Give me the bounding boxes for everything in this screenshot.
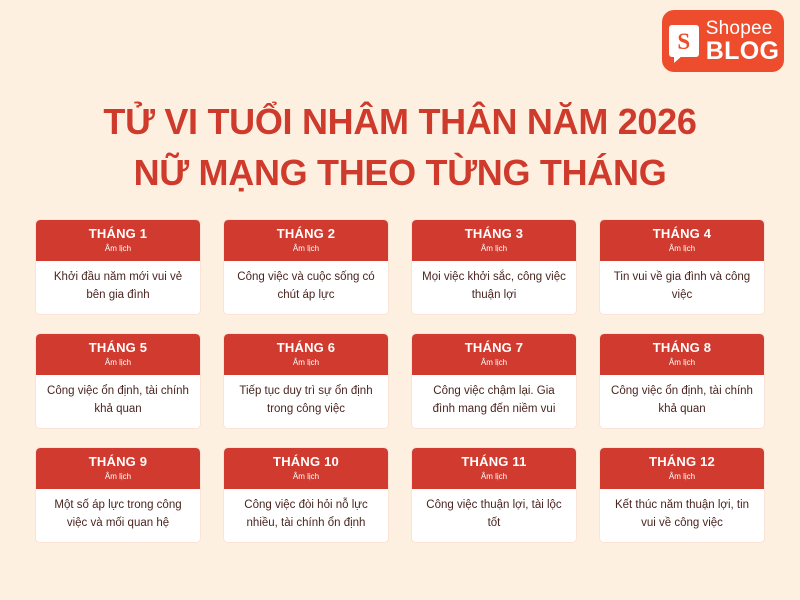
month-card-label: THÁNG 9	[40, 455, 196, 470]
month-card-header: THÁNG 3 Âm lịch	[412, 220, 576, 261]
month-card-label: THÁNG 3	[416, 227, 572, 242]
month-card-label: THÁNG 1	[40, 227, 196, 242]
month-card-text: Một số áp lực trong công việc và mối qua…	[36, 489, 200, 542]
month-card-label: THÁNG 12	[604, 455, 760, 470]
month-card-header: THÁNG 7 Âm lịch	[412, 334, 576, 375]
month-card-label: THÁNG 2	[228, 227, 384, 242]
month-card-calendar-type: Âm lịch	[416, 358, 572, 368]
month-card-header: THÁNG 8 Âm lịch	[600, 334, 764, 375]
month-card-label: THÁNG 6	[228, 341, 384, 356]
month-card: THÁNG 1 Âm lịch Khởi đầu năm mới vui vẻ …	[36, 220, 200, 314]
month-card-text: Công việc đòi hỏi nỗ lực nhiều, tài chín…	[224, 489, 388, 542]
month-card: THÁNG 11 Âm lịch Công việc thuận lợi, tà…	[412, 448, 576, 542]
month-card-label: THÁNG 8	[604, 341, 760, 356]
page-title-line-2: NỮ MẠNG THEO TỪNG THÁNG	[0, 147, 800, 198]
month-card-label: THÁNG 11	[416, 455, 572, 470]
month-card: THÁNG 9 Âm lịch Một số áp lực trong công…	[36, 448, 200, 542]
month-card-calendar-type: Âm lịch	[416, 244, 572, 254]
month-card: THÁNG 12 Âm lịch Kết thúc năm thuận lợi,…	[600, 448, 764, 542]
month-card-calendar-type: Âm lịch	[416, 472, 572, 482]
month-card-text: Công việc ổn định, tài chính khả quan	[36, 375, 200, 428]
month-card-calendar-type: Âm lịch	[40, 244, 196, 254]
month-card-calendar-type: Âm lịch	[40, 472, 196, 482]
month-card-label: THÁNG 5	[40, 341, 196, 356]
month-card: THÁNG 7 Âm lịch Công việc chậm lại. Gia …	[412, 334, 576, 428]
month-card-text: Tiếp tục duy trì sự ổn định trong công v…	[224, 375, 388, 428]
month-card-calendar-type: Âm lịch	[228, 472, 384, 482]
month-card-text: Công việc ổn định, tài chính khả quan	[600, 375, 764, 428]
logo-word-blog: BLOG	[706, 39, 779, 64]
month-card-header: THÁNG 11 Âm lịch	[412, 448, 576, 489]
month-card-text: Khởi đầu năm mới vui vẻ bên gia đình	[36, 261, 200, 314]
month-card-label: THÁNG 4	[604, 227, 760, 242]
month-card: THÁNG 8 Âm lịch Công việc ổn định, tài c…	[600, 334, 764, 428]
month-card: THÁNG 6 Âm lịch Tiếp tục duy trì sự ổn đ…	[224, 334, 388, 428]
month-card-text: Tin vui về gia đình và công việc	[600, 261, 764, 314]
month-card-header: THÁNG 1 Âm lịch	[36, 220, 200, 261]
month-card-calendar-type: Âm lịch	[604, 244, 760, 254]
month-card-header: THÁNG 12 Âm lịch	[600, 448, 764, 489]
month-card-calendar-type: Âm lịch	[228, 358, 384, 368]
month-card-text: Mọi việc khởi sắc, công việc thuận lợi	[412, 261, 576, 314]
shopee-blog-logo: S Shopee BLOG	[662, 10, 784, 72]
month-card-label: THÁNG 10	[228, 455, 384, 470]
month-card-header: THÁNG 2 Âm lịch	[224, 220, 388, 261]
month-card-header: THÁNG 6 Âm lịch	[224, 334, 388, 375]
month-card-text: Công việc thuận lợi, tài lộc tốt	[412, 489, 576, 542]
logo-wordmark: Shopee BLOG	[706, 19, 779, 64]
logo-word-shopee: Shopee	[706, 19, 773, 38]
shopee-bag-icon: S	[669, 25, 699, 57]
month-card-label: THÁNG 7	[416, 341, 572, 356]
page-title-line-1: TỬ VI TUỔI NHÂM THÂN NĂM 2026	[0, 96, 800, 147]
month-card-header: THÁNG 5 Âm lịch	[36, 334, 200, 375]
month-card-text: Công việc và cuộc sống có chút áp lực	[224, 261, 388, 314]
month-card-text: Kết thúc năm thuận lợi, tin vui về công …	[600, 489, 764, 542]
month-card: THÁNG 10 Âm lịch Công việc đòi hỏi nỗ lự…	[224, 448, 388, 542]
month-card: THÁNG 4 Âm lịch Tin vui về gia đình và c…	[600, 220, 764, 314]
month-card-calendar-type: Âm lịch	[604, 472, 760, 482]
month-card-header: THÁNG 10 Âm lịch	[224, 448, 388, 489]
month-card: THÁNG 5 Âm lịch Công việc ổn định, tài c…	[36, 334, 200, 428]
month-card-header: THÁNG 4 Âm lịch	[600, 220, 764, 261]
month-card-text: Công việc chậm lại. Gia đình mang đến ni…	[412, 375, 576, 428]
month-card: THÁNG 3 Âm lịch Mọi việc khởi sắc, công …	[412, 220, 576, 314]
month-card-calendar-type: Âm lịch	[604, 358, 760, 368]
logo-letter-s: S	[669, 25, 699, 57]
month-card: THÁNG 2 Âm lịch Công việc và cuộc sống c…	[224, 220, 388, 314]
month-card-calendar-type: Âm lịch	[40, 358, 196, 368]
month-grid: THÁNG 1 Âm lịch Khởi đầu năm mới vui vẻ …	[36, 220, 764, 542]
month-card-header: THÁNG 9 Âm lịch	[36, 448, 200, 489]
month-card-calendar-type: Âm lịch	[228, 244, 384, 254]
page-title: TỬ VI TUỔI NHÂM THÂN NĂM 2026 NỮ MẠNG TH…	[0, 96, 800, 198]
